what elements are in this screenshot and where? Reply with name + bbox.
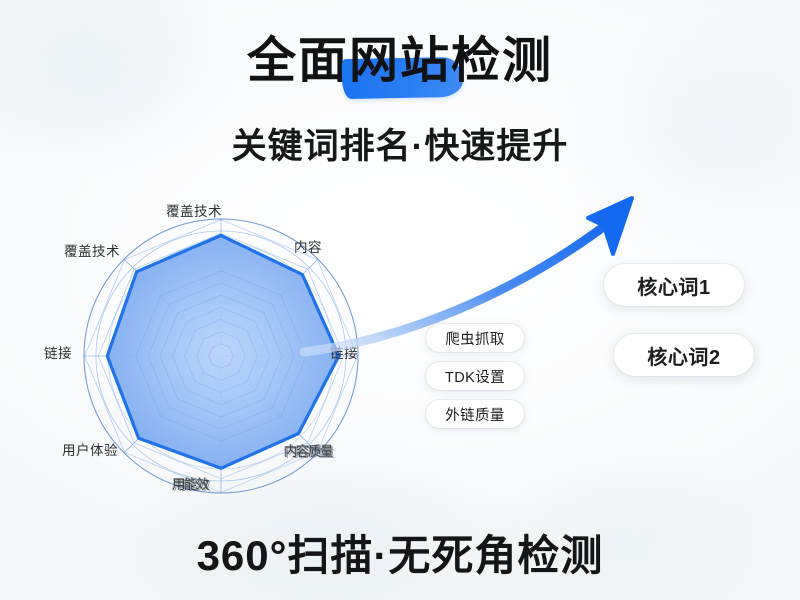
radar-axis-label-top-right: 内容 <box>294 236 322 256</box>
subtitle: 关键词排名·快速提升 <box>0 118 800 169</box>
title-segment-before: 全面 <box>247 34 349 88</box>
arrow-head <box>588 198 632 254</box>
radar-axis-label-bottom: 用能效 <box>172 473 208 493</box>
keyword-pill-2[interactable]: 核心词2 <box>614 334 754 376</box>
radar-axis-label-top-left: 覆盖技术 <box>64 240 120 260</box>
radar-axis-label-top: 覆盖技术 <box>166 200 222 220</box>
poster-canvas: 全面网站检测 关键词排名·快速提升 <box>0 0 800 600</box>
check-pill-backlink[interactable]: 外链质量 <box>426 400 524 428</box>
radar-axis-label-left: 链接 <box>44 342 72 362</box>
title-segment-after: 检测 <box>451 34 553 88</box>
check-pill-tdk[interactable]: TDK设置 <box>426 362 524 390</box>
headline-container: 全面网站检测 <box>0 34 800 89</box>
footer-tagline: 360°扫描·无死角检测 <box>0 522 800 583</box>
radar-axis-label-right: 链接 <box>330 342 358 362</box>
radar-axis-label-bottom-right: 内容质量 <box>284 440 332 460</box>
check-pill-crawl[interactable]: 爬虫抓取 <box>426 324 524 352</box>
radar-axis-label-bottom-left: 用户体验 <box>62 439 118 459</box>
radar-chart: 覆盖技术 内容 链接 内容质量 用能效 用户体验 链接 覆盖技术 <box>36 196 406 516</box>
title-highlight: 网站 <box>349 34 451 89</box>
page-title: 全面网站检测 <box>247 34 553 89</box>
keyword-pill-1[interactable]: 核心词1 <box>604 264 744 306</box>
radar-data-polygon <box>107 235 338 468</box>
